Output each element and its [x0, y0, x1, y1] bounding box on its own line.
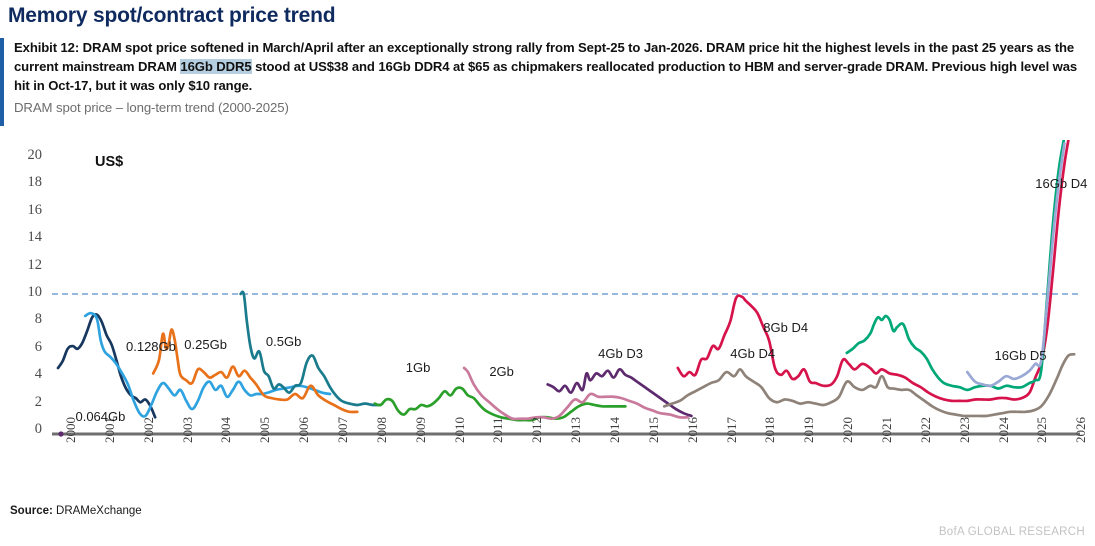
series-annotation: 4Gb D4	[730, 346, 775, 361]
x-axis-tick: 2011	[490, 417, 506, 443]
x-axis-tick: 2002	[141, 417, 157, 443]
source-label: Source:	[10, 505, 53, 517]
x-axis-tick: 2004	[218, 417, 234, 443]
y-axis-tick: 4	[12, 366, 42, 383]
x-axis-tick: 2016	[685, 417, 701, 443]
series-group	[58, 140, 1074, 420]
series-line-0-064gb	[58, 314, 155, 417]
x-axis-tick: 2024	[996, 417, 1012, 443]
x-axis-tick: 2003	[180, 417, 196, 443]
series-annotation: 16Gb D5	[995, 348, 1047, 363]
y-axis-tick: 12	[12, 257, 42, 274]
y-axis-tick: 20	[12, 147, 42, 164]
series-annotation: 0.5Gb	[266, 334, 301, 349]
series-annotation: 0.064Gb	[75, 409, 125, 424]
x-axis-tick: 2010	[452, 417, 468, 443]
x-axis-tick: 2005	[257, 417, 273, 443]
accent-bar	[0, 38, 4, 126]
series-annotation: 8Gb D4	[763, 320, 808, 335]
x-axis-tick: 2026	[1073, 417, 1089, 443]
y-axis-tick: 6	[12, 339, 42, 356]
y-axis-tick: 14	[12, 229, 42, 246]
series-line-4gb-d3	[548, 369, 692, 416]
x-axis-tick: 2023	[957, 417, 973, 443]
x-axis-tick: 2007	[335, 417, 351, 443]
series-line-1gb	[375, 388, 626, 421]
x-axis-tick: 2022	[918, 417, 934, 443]
x-axis-tick: 2015	[646, 417, 662, 443]
exhibit-caption: Exhibit 12: DRAM spot price softened in …	[14, 38, 1086, 96]
x-axis-tick: 2012	[529, 417, 545, 443]
attribution: BofA GLOBAL RESEARCH	[939, 526, 1085, 538]
x-axis-tick: 2021	[879, 417, 895, 443]
x-axis-tick: 2014	[607, 417, 623, 443]
x-axis-tick: 2025	[1034, 417, 1050, 443]
x-axis-tick: 2017	[724, 417, 740, 443]
y-axis-tick: 16	[12, 202, 42, 219]
series-line-4gb-d4	[664, 354, 1074, 416]
source-line: Source: DRAMeXchange	[10, 505, 142, 517]
x-axis-tick: 2018	[762, 417, 778, 443]
y-axis-tick: 0	[12, 421, 42, 438]
page-title: Memory spot/contract price trend	[8, 4, 335, 28]
source-value: DRAMeXchange	[56, 505, 142, 517]
chart-subcaption: DRAM spot price – long-term trend (2000-…	[14, 100, 289, 115]
series-annotation: 16Gb D4	[1035, 176, 1087, 191]
y-axis-tick: 8	[12, 311, 42, 328]
series-line-0-128gb	[85, 313, 330, 416]
x-axis-tick: 2013	[568, 417, 584, 443]
x-axis-tick: 2006	[296, 417, 312, 443]
chart-container: US$ 024681012141618202000200120022003200…	[0, 140, 1095, 490]
y-axis-tick: 18	[12, 174, 42, 191]
series-annotation: 0.128Gb	[126, 339, 176, 354]
x-axis-tick: 2019	[801, 417, 817, 443]
x-axis-tick: 2020	[840, 417, 856, 443]
series-annotation: 0.25Gb	[184, 337, 227, 352]
series-annotation: 2Gb	[489, 364, 514, 379]
series-annotation: 1Gb	[406, 360, 431, 375]
exhibit-highlight: 16Gb DDR5	[180, 59, 251, 74]
y-axis-tick: 10	[12, 284, 42, 301]
series-annotation: 4Gb D3	[598, 346, 643, 361]
x-axis-tick: 2009	[413, 417, 429, 443]
y-axis-tick: 2	[12, 394, 42, 411]
x-axis-tick: 2008	[374, 417, 390, 443]
